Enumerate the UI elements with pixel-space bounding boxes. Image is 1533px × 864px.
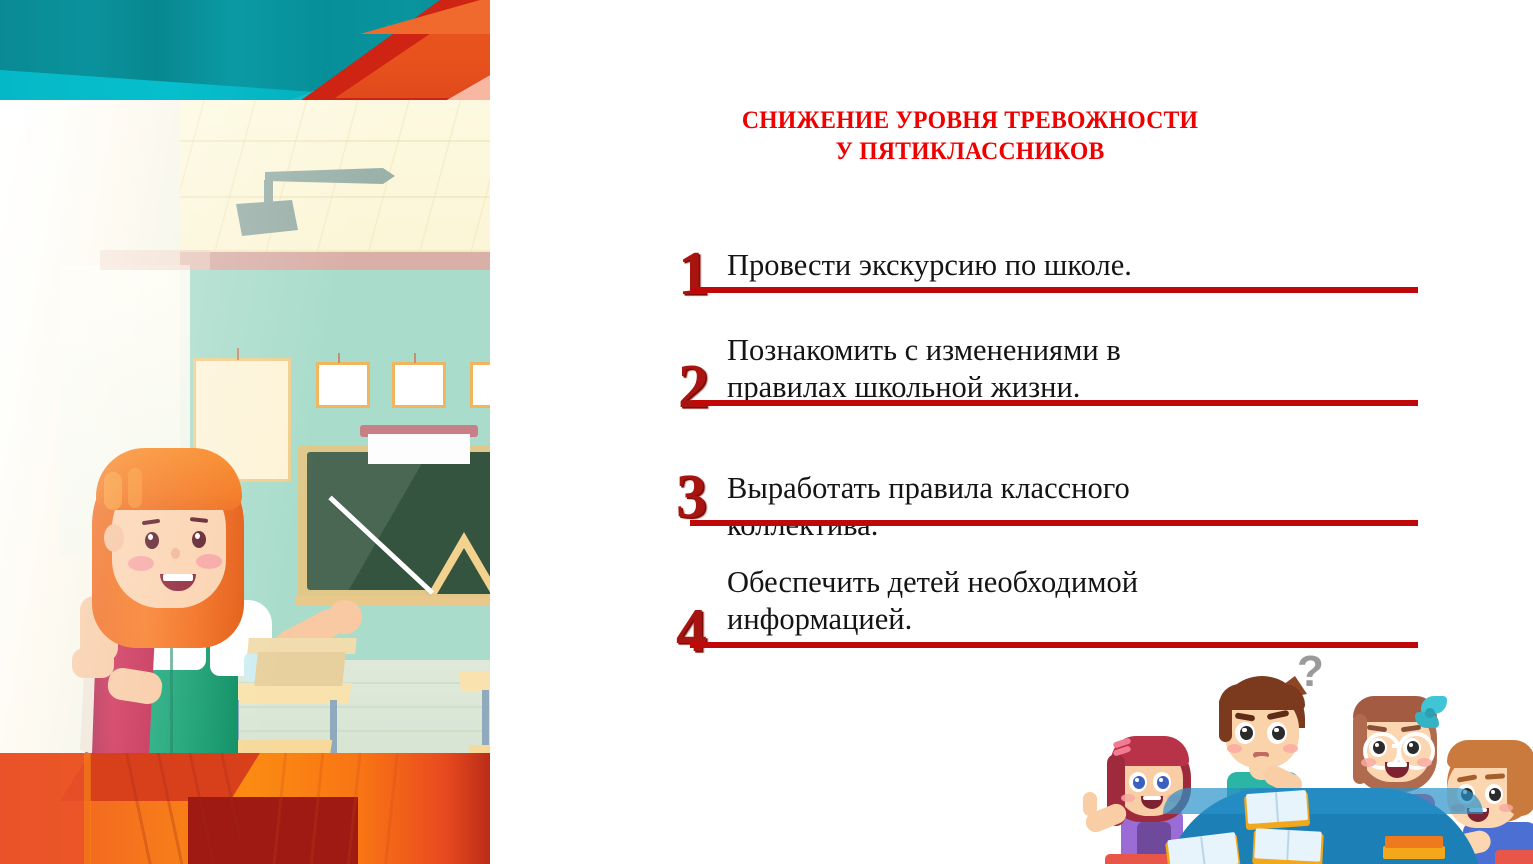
projector-box (236, 200, 298, 236)
list-item-4-text: Обеспечить детей необходимой информацией… (727, 564, 1417, 638)
list-item-1-text: Провести экскурсию по школе. (727, 247, 1417, 284)
list-item-3-number: 3 (676, 466, 707, 528)
list-item-1-rule (692, 287, 1418, 293)
floor-strip (0, 753, 518, 864)
page-title: СНИЖЕНИЕ УРОВНЯ ТРЕВОЖНОСТИ У ПЯТИКЛАССН… (645, 104, 1296, 166)
list-item-2-rule (692, 400, 1418, 406)
list-item-4-number: 4 (676, 600, 707, 662)
framed-picture (316, 362, 370, 408)
four-children-reading-at-table: ? (1065, 648, 1533, 864)
list-item-3-text: Выработать правила классного коллектива. (727, 470, 1417, 544)
slide-canvas: СНИЖЕНИЕ УРОВНЯ ТРЕВОЖНОСТИ У ПЯТИКЛАССН… (0, 0, 1533, 864)
list-item-1-number: 1 (678, 243, 709, 305)
list-item-2-number: 2 (678, 356, 709, 418)
list-item-3-rule (690, 520, 1418, 526)
list-item-2-text: Познакомить с изменениями в правилах шко… (727, 332, 1417, 406)
framed-picture (392, 362, 446, 408)
